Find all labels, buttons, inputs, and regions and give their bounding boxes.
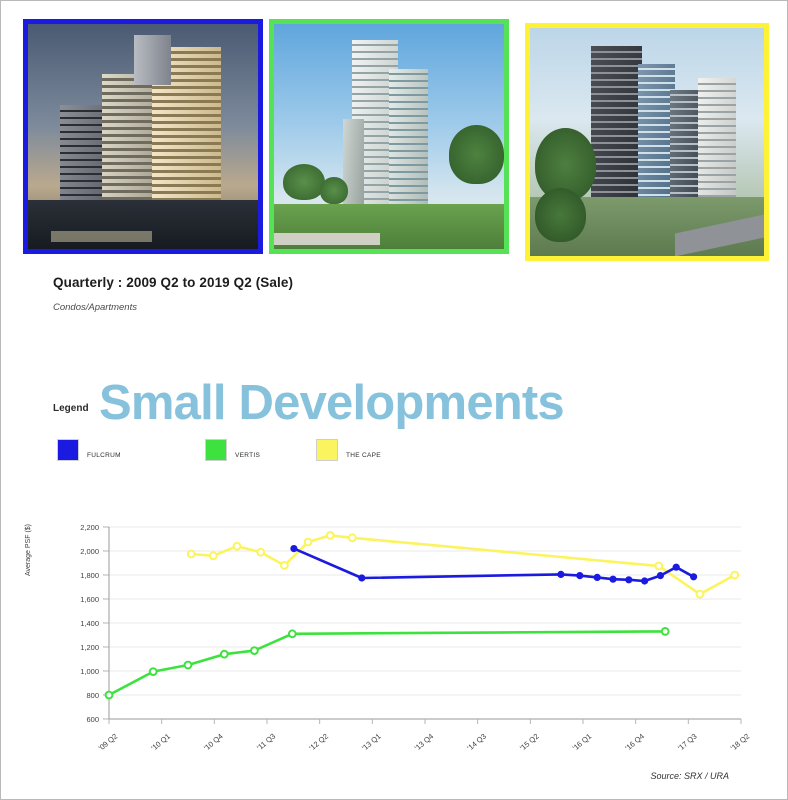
legend-item-label: THE CAPE <box>346 452 381 459</box>
fulcrum-photo <box>23 19 263 254</box>
y-tick-label: 2,000 <box>80 547 99 556</box>
report-subtitle: Condos/Apartments <box>53 302 137 313</box>
data-point[interactable] <box>673 564 679 570</box>
data-point[interactable] <box>257 549 264 556</box>
x-tick-label: '16 Q1 <box>571 732 594 753</box>
legend-item-label: FULCRUM <box>87 452 121 459</box>
data-point[interactable] <box>150 668 157 675</box>
legend-item-label: VERTIS <box>235 452 260 459</box>
the-cape-photo-frame <box>525 23 769 261</box>
vertis-rendering <box>274 24 504 249</box>
y-tick-label: 800 <box>86 691 99 700</box>
photo-strip <box>1 1 788 269</box>
data-point[interactable] <box>234 543 241 550</box>
the-cape-rendering <box>530 28 764 256</box>
data-point[interactable] <box>281 562 288 569</box>
x-tick-label: '14 Q3 <box>465 732 488 753</box>
y-tick-label: 1,600 <box>80 595 99 604</box>
vertis-photo-frame <box>269 19 509 254</box>
data-point[interactable] <box>359 575 365 581</box>
legend-swatch-vertis <box>205 439 227 461</box>
vertis-photo <box>269 19 509 254</box>
report-title: Quarterly : 2009 Q2 to 2019 Q2 (Sale) <box>53 275 293 290</box>
data-point[interactable] <box>642 578 648 584</box>
x-tick-label: '09 Q2 <box>97 732 120 753</box>
series-the-cape <box>188 532 738 598</box>
data-point[interactable] <box>349 534 356 541</box>
data-point[interactable] <box>106 692 113 699</box>
data-point[interactable] <box>657 573 663 579</box>
data-point[interactable] <box>291 546 297 552</box>
legend-row: FULCRUM VERTIS THE CAPE <box>57 439 617 465</box>
source-note: Source: SRX / URA <box>650 771 729 781</box>
series-vertis <box>106 628 669 698</box>
fulcrum-photo-frame <box>23 19 263 254</box>
x-tick-label: '13 Q4 <box>413 732 436 753</box>
the-cape-photo <box>525 23 769 261</box>
y-tick-label: 1,400 <box>80 619 99 628</box>
x-tick-label: '17 Q3 <box>676 732 699 753</box>
x-tick-label: '10 Q1 <box>149 732 172 753</box>
psf-line-chart: 6008001,0001,2001,4001,6001,8002,0002,20… <box>41 501 751 791</box>
data-point[interactable] <box>558 571 564 577</box>
y-tick-label: 1,200 <box>80 643 99 652</box>
legend-swatch-fulcrum <box>57 439 79 461</box>
legend-swatch-the-cape <box>316 439 338 461</box>
data-point[interactable] <box>289 630 296 637</box>
data-point[interactable] <box>305 539 312 546</box>
y-tick-label: 600 <box>86 715 99 724</box>
x-tick-label: '11 Q3 <box>255 732 277 753</box>
data-point[interactable] <box>251 647 258 654</box>
report-page: Quarterly : 2009 Q2 to 2019 Q2 (Sale) Co… <box>0 0 788 800</box>
data-point[interactable] <box>577 573 583 579</box>
data-point[interactable] <box>594 574 600 580</box>
data-point[interactable] <box>327 532 334 539</box>
data-point[interactable] <box>188 551 195 558</box>
data-point[interactable] <box>610 576 616 582</box>
x-tick-label: '12 Q2 <box>307 732 330 753</box>
data-point[interactable] <box>731 572 738 579</box>
data-point[interactable] <box>626 577 632 583</box>
data-point[interactable] <box>210 552 217 559</box>
y-axis-title: Average PSF ($) <box>25 524 32 576</box>
data-point[interactable] <box>691 574 697 580</box>
data-point[interactable] <box>697 591 704 598</box>
chart-big-title: Small Developments <box>99 379 564 428</box>
data-point[interactable] <box>221 651 228 658</box>
x-tick-label: '13 Q1 <box>360 732 383 753</box>
y-tick-label: 1,000 <box>80 667 99 676</box>
y-tick-label: 1,800 <box>80 571 99 580</box>
chart-canvas: 6008001,0001,2001,4001,6001,8002,0002,20… <box>41 501 751 791</box>
x-tick-label: '10 Q4 <box>202 732 225 753</box>
fulcrum-rendering <box>28 24 258 249</box>
data-point[interactable] <box>662 628 669 635</box>
data-point[interactable] <box>655 563 662 570</box>
legend-label: Legend <box>53 403 89 414</box>
x-tick-label: '15 Q2 <box>518 732 541 753</box>
x-tick-label: '18 Q2 <box>729 732 751 753</box>
x-tick-label: '16 Q4 <box>623 732 646 753</box>
y-tick-label: 2,200 <box>80 523 99 532</box>
data-point[interactable] <box>185 662 192 669</box>
